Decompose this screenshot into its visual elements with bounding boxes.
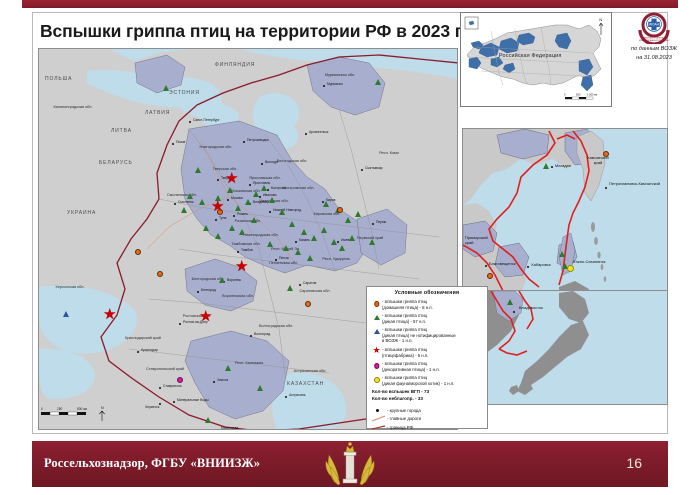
woah-logo: WOAH ВСЕМИРНАЯ ОРГАНИЗАЦИЯ ЗДРАВООХРАНЕН… <box>634 12 674 44</box>
map-label-voronezh-city: Воронеж <box>227 279 241 283</box>
map-label-stavropol-city: Ставрополь <box>163 385 182 389</box>
fareast-label-vladivostok: Владивосток <box>519 305 543 310</box>
legend-text-line-2: (птицефабрика) - 5 н.п. <box>382 353 428 359</box>
legend-key-rf-border: - граница РФ <box>371 424 483 431</box>
inset-map-far-east[interactable]: Магадан Камчатский край Петропавловск-Ка… <box>462 128 668 303</box>
outbreak-marker-wild-bird[interactable] <box>215 233 221 239</box>
outbreak-marker-domestic-poultry[interactable] <box>487 273 493 279</box>
map-label-saratov: Саратовская обл. <box>299 289 331 293</box>
outbreak-marker-wild-bird[interactable] <box>199 199 205 205</box>
map-label-spb: Санкт-Петербург <box>193 119 220 123</box>
map-label-voronezh: Воронежская обл. <box>221 294 255 298</box>
legend-key-label: - крупные города <box>387 408 421 413</box>
outbreak-marker-domestic-poultry[interactable] <box>603 151 609 157</box>
svg-text:N: N <box>599 17 602 22</box>
legend-text-line-2: (декоративная птица) - 1 н.п. <box>382 367 440 373</box>
map-label-krasnodar: Краснодарский край <box>125 336 161 340</box>
map-label-ryazan-city: Рязань <box>237 213 248 217</box>
footer-bar: Россельхознадзор, ФГБУ «ВНИИЗЖ» <box>32 441 668 487</box>
svg-text:1 000 км: 1 000 км <box>587 93 597 97</box>
outbreak-marker-wild-bird[interactable] <box>369 239 375 245</box>
page-title: Вспышки гриппа птиц на территории РФ в 2… <box>40 18 458 44</box>
map-label-murmansk: Мурманская обл. <box>323 73 357 77</box>
outbreak-marker-decorative-bird[interactable] <box>177 377 183 383</box>
outbreak-marker-wild-bird[interactable] <box>339 245 345 251</box>
fareast-label-primorsky: Приморский край <box>465 235 483 245</box>
map-label-saratov-city: Саратов <box>303 282 316 286</box>
legend-text-line-2: (домашняя птица) - 8 н.п. <box>382 305 433 311</box>
outbreak-marker-wild-bird[interactable] <box>543 163 549 169</box>
outbreak-marker-wild-bird[interactable] <box>301 229 307 235</box>
outbreak-marker-wild-bird-unnotified[interactable] <box>63 311 69 317</box>
outbreak-marker-wild-bird[interactable] <box>253 191 259 197</box>
outbreak-marker-wild-bird[interactable] <box>227 187 233 193</box>
legend-symbol-yellow-circle <box>371 374 382 385</box>
map-label-vologda-city: Вологда <box>265 161 278 165</box>
outbreak-marker-wild-bird[interactable] <box>251 217 257 223</box>
legend-item-poultry-farm: ★ - вспышки гриппа птиц (птицефабрика) -… <box>371 346 483 358</box>
outbreak-marker-wild-bird[interactable] <box>355 211 361 217</box>
top-accent-bar <box>22 0 678 8</box>
outbreak-marker-wild-bird[interactable] <box>225 365 231 371</box>
map-label-ukraine: УКРАИНА <box>67 211 96 216</box>
map-label-pskov: Псков <box>176 141 185 145</box>
legend-key-major-cities: - крупные города <box>371 407 483 414</box>
map-label-minvody: Минеральные Воды <box>177 399 209 403</box>
outbreak-marker-wild-bird[interactable] <box>269 197 275 203</box>
map-label-syktyvkar: Сыктывкар <box>365 167 383 171</box>
outbreak-marker-wild-bird[interactable] <box>323 201 329 207</box>
map-label-astrakhan: Астраханская обл. <box>293 369 327 373</box>
map-label-kherson: Херсонская обл. <box>53 285 87 289</box>
map-label-poland: ПОЛЬША <box>45 77 72 82</box>
map-label-penza-city: Пенза <box>279 257 289 261</box>
map-label-volgograd-city: Волгоград <box>254 333 270 337</box>
legend-item-sea-mammal: - вспышки гриппа птиц (дикая фауна/морск… <box>371 374 483 386</box>
inset-russia-geometry: 0 500 1 000 км N <box>461 13 611 106</box>
map-label-finland: ФИНЛЯНДИЯ <box>215 63 255 68</box>
outbreak-marker-wild-bird[interactable] <box>321 227 327 233</box>
far-east-south-geometry <box>463 291 667 404</box>
outbreak-marker-wild-bird[interactable] <box>331 239 337 245</box>
fareast-label-yuzhno-sakhalinsk: Южно-Сахалинск <box>573 259 605 264</box>
legend-text-line-2: (дикая птица) - 57 н.п. <box>382 319 427 325</box>
map-label-volgograd: Волгоградская обл. <box>259 324 293 328</box>
legend-symbol-green-triangle <box>371 312 382 323</box>
outbreak-marker-wild-bird[interactable] <box>507 299 513 305</box>
outbreak-marker-wild-bird[interactable] <box>245 199 251 205</box>
svg-text:500: 500 <box>576 93 581 97</box>
map-label-kaliningrad: Калининградская обл. <box>53 105 93 109</box>
map-label-elista: Элиста <box>217 379 228 383</box>
map-label-ryazan: Рязанская обл. <box>233 219 263 223</box>
fareast-label-petropavlovsk: Петропавловск-Камчатский <box>609 181 660 186</box>
legend-title: Условные обозначения <box>371 290 483 296</box>
legend-count-affected-areas: Кол-во неблагопр. - 33 <box>372 396 483 403</box>
footer-organization: Россельхознадзор, ФГБУ «ВНИИЗЖ» <box>44 456 260 471</box>
legend-text-line-3: в ВОЗЖ - 1 н.п. <box>382 338 456 344</box>
map-label-stavropol: Ставропольский край <box>145 367 185 371</box>
map-label-yaroslavl: Ярославская обл. <box>249 176 281 180</box>
outbreak-marker-wild-bird[interactable] <box>267 241 273 247</box>
inset-map-far-east-south[interactable]: Владивосток <box>462 290 668 405</box>
outbreak-marker-wild-bird[interactable] <box>287 285 293 291</box>
map-label-belgorod-city: Белгород <box>201 289 216 293</box>
outbreak-marker-domestic-poultry[interactable] <box>135 249 141 255</box>
map-label-arkhangelsk: Архангельск <box>309 131 328 135</box>
legend-symbol-border-line <box>371 424 387 431</box>
inset-map-russia[interactable]: 0 500 1 000 км N Российская Федерация <box>460 12 612 107</box>
legend-key-label: - главные дороги <box>387 416 421 421</box>
map-label-astrakhan-city: Астрахань <box>289 394 305 398</box>
outbreak-marker-wild-bird[interactable] <box>239 229 245 235</box>
outbreak-marker-domestic-poultry[interactable] <box>157 271 163 277</box>
outbreak-marker-domestic-poultry[interactable] <box>305 301 311 307</box>
outbreak-marker-wild-bird[interactable] <box>203 225 209 231</box>
outbreak-marker-wild-bird[interactable] <box>163 85 169 91</box>
outbreak-marker-wild-bird[interactable] <box>559 251 565 257</box>
map-label-vologda: Вологодская обл. <box>275 159 309 163</box>
svg-text:250: 250 <box>57 407 63 411</box>
svg-text:0: 0 <box>41 407 43 411</box>
map-label-nizhny-novgorod: Нижегородская обл. <box>241 233 281 237</box>
map-label-smolensk: Смоленская обл. <box>165 193 199 197</box>
map-label-estonia: ЭСТОНИЯ <box>169 91 200 96</box>
map-label-krasnodar-city: Краснодар <box>141 349 158 353</box>
legend-item-domestic-poultry: - вспышки гриппа птиц (домашняя птица) -… <box>371 298 483 310</box>
map-label-tula: Тула <box>219 217 226 221</box>
outbreak-marker-wild-bird[interactable] <box>349 235 355 241</box>
outbreak-marker-wild-bird[interactable] <box>257 385 263 391</box>
rosselkhoznadzor-emblem <box>319 441 381 487</box>
outbreak-marker-wild-bird[interactable] <box>279 209 285 215</box>
svg-text:ЗДРАВООХРАНЕНИЯ ЖИВОТНЫХ: ЗДРАВООХРАНЕНИЯ ЖИВОТНЫХ <box>639 39 671 42</box>
legend-key-main-roads: - главные дороги <box>371 415 483 422</box>
map-label-kalmykia: Респ. Калмыкия <box>235 361 263 365</box>
outbreak-marker-wild-bird[interactable] <box>345 217 351 223</box>
map-label-penza: Пензенская обл. <box>269 261 297 265</box>
fareast-label-khabarovsk: Хабаровск <box>531 262 551 267</box>
outbreak-marker-wild-bird[interactable] <box>229 225 235 231</box>
outbreak-marker-wild-bird[interactable] <box>195 167 201 173</box>
legend-item-wild-bird: - вспышки гриппа птиц (дикая птица) - 57… <box>371 312 483 324</box>
legend-text-line-1: - вспышки гриппа птиц <box>382 313 427 319</box>
legend-key-label: - граница РФ <box>387 425 413 430</box>
outbreak-marker-wild-bird[interactable] <box>181 207 187 213</box>
map-label-petrozavodsk: Петрозаводск <box>247 139 269 143</box>
legend-item-wild-bird-unnotified: - вспышки гриппа птиц (дикая птица) не н… <box>371 326 483 344</box>
map-label-smolensk-city: Смоленск <box>178 201 194 205</box>
outbreak-marker-wild-bird[interactable] <box>187 193 193 199</box>
legend-item-decorative-bird: - вспышки гриппа птиц (декоративная птиц… <box>371 360 483 372</box>
outbreak-marker-wild-bird[interactable] <box>219 277 225 283</box>
map-label-tambov-city: Тамбов <box>241 249 253 253</box>
map-label-komi: Респ. Коми <box>375 151 403 155</box>
main-map-scale-bar: 0250500 км N <box>41 403 127 425</box>
source-block: WOAH ВСЕМИРНАЯ ОРГАНИЗАЦИЯ ЗДРАВООХРАНЕН… <box>616 12 692 70</box>
legend-text-line-2: (дикая фауна/морской котик) - 1 н.п. <box>382 381 454 387</box>
legend-text-line-1: - вспышки гриппа птиц <box>382 299 433 305</box>
far-east-geometry <box>463 129 667 302</box>
legend-text-line-1: - вспышки гриппа птиц <box>382 347 428 353</box>
outbreak-marker-wild-bird[interactable] <box>205 417 211 423</box>
outbreak-marker-wild-bird[interactable] <box>311 235 317 241</box>
map-label-vladimir: Владимир <box>253 201 269 205</box>
map-label-kostroma: Костромская обл. <box>283 186 315 190</box>
city-dot <box>217 429 219 430</box>
page-number: 16 <box>626 455 642 471</box>
map-label-belarus: БЕЛАРУСЬ <box>99 161 133 166</box>
map-label-lithuania: ЛИТВА <box>111 129 132 134</box>
legend-symbol-black-dot <box>371 407 387 414</box>
outbreak-marker-wild-bird[interactable] <box>307 255 313 261</box>
map-label-udmurtia: Респ. Удмуртия <box>321 257 351 261</box>
map-label-cherkessk: Черкесск <box>145 406 159 410</box>
map-label-kostroma-city: Кострома <box>271 187 286 191</box>
outbreak-marker-wild-bird[interactable] <box>283 245 289 251</box>
inset-label-russian-federation: Российская Федерация <box>499 53 562 59</box>
outbreak-marker-wild-bird[interactable] <box>289 221 295 227</box>
svg-text:WOAH: WOAH <box>649 23 660 27</box>
slide-root: Вспышки гриппа птиц на территории РФ в 2… <box>0 0 700 495</box>
legend-symbol-road-line <box>371 415 387 422</box>
map-label-kazakhstan: КАЗАХСТАН <box>287 382 324 387</box>
outbreak-marker-wild-bird[interactable] <box>235 205 241 211</box>
outbreak-marker-domestic-poultry[interactable] <box>337 207 343 213</box>
map-label-makhachkala: Махачкала <box>221 427 238 430</box>
legend-symbol-blue-triangle <box>371 326 382 337</box>
fareast-label-magadan: Магадан <box>555 163 571 168</box>
legend-symbol-orange-circle <box>371 298 382 309</box>
map-label-kazan: Казань <box>299 239 310 243</box>
map-label-perm-city: Пермь <box>376 221 386 225</box>
outbreak-marker-wild-bird[interactable] <box>375 79 381 85</box>
outbreak-marker-wild-bird[interactable] <box>295 249 301 255</box>
source-line-1: по данным ВОЗЖ <box>616 45 692 53</box>
source-line-2: на 31.08.2023 <box>616 54 692 62</box>
map-label-murmansk-city: Мурманск <box>327 83 343 87</box>
legend-box: Условные обозначения - вспышки гриппа пт… <box>366 286 488 429</box>
map-label-nnovgorod-city: Нижний Новгород <box>273 209 301 213</box>
legend-symbol-red-star: ★ <box>371 346 382 357</box>
svg-text:N: N <box>101 406 104 410</box>
fareast-label-blagoveshchensk: Благовещенск <box>489 261 515 266</box>
outbreak-marker-wild-bird[interactable] <box>261 185 267 191</box>
outbreak-marker-sea-mammal[interactable] <box>567 265 574 272</box>
svg-text:500 км: 500 км <box>77 407 87 411</box>
map-label-novgorod: Новгородская обл. <box>199 145 233 149</box>
map-label-latvia: ЛАТВИЯ <box>145 111 170 116</box>
map-label-moscow: Москва <box>231 197 243 201</box>
legend-symbol-magenta-circle <box>371 360 382 371</box>
map-label-tambov: Тамбовская обл. <box>231 242 261 246</box>
